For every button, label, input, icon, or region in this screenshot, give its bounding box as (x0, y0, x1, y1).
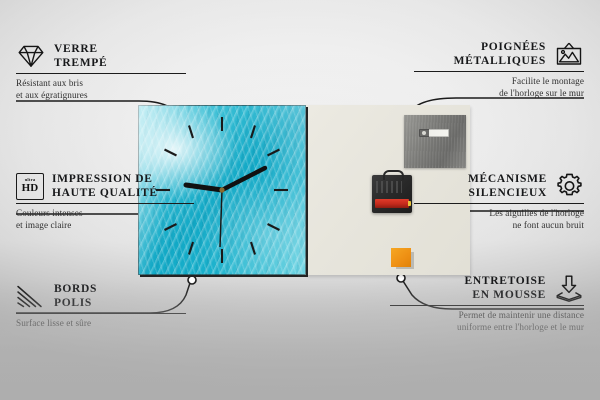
ultra-hd-icon-large-text: HD (22, 183, 39, 194)
metal-plate (404, 115, 466, 168)
callout-header: ENTRETOISE EN MOUSSE (390, 274, 584, 302)
callout-desc: Permet de maintenir une distance uniform… (390, 309, 584, 333)
mechanism-hook (383, 170, 404, 180)
battery (375, 199, 409, 208)
callout-header: ultra HD IMPRESSION DE HAUTE QUALITÉ (16, 172, 194, 200)
callout-rule (16, 313, 186, 314)
clock-center-cap (219, 187, 224, 192)
metal-plate-slot (419, 129, 449, 137)
callout-impression-haute-qualite: ultra HD IMPRESSION DE HAUTE QUALITÉ Cou… (16, 172, 194, 231)
foam-spacer-icon (554, 274, 584, 302)
callout-poignees-metalliques: POIGNÉES MÉTALLIQUES Facilite le montage… (414, 40, 584, 99)
callout-rule (414, 71, 584, 72)
callout-rule (16, 73, 186, 74)
polished-edges-icon (16, 284, 46, 309)
ultra-hd-icon: ultra HD (16, 173, 44, 200)
callout-title: BORDS POLIS (54, 282, 97, 310)
callout-title: MÉCANISME SILENCIEUX (468, 172, 547, 200)
callout-header: VERRE TREMPÉ (16, 42, 186, 70)
callout-header: MÉCANISME SILENCIEUX (414, 172, 584, 200)
quartz-mechanism (372, 175, 412, 213)
foam-spacer (391, 248, 411, 267)
callout-desc: Couleurs intenses et image claire (16, 207, 194, 231)
callout-desc: Surface lisse et sûre (16, 317, 186, 329)
callout-title: IMPRESSION DE HAUTE QUALITÉ (52, 172, 158, 200)
callout-header: POIGNÉES MÉTALLIQUES (414, 40, 584, 68)
callout-desc: Les aiguilles de l'horloge ne font aucun… (414, 207, 584, 231)
callout-desc: Résistant aux bris et aux égratignures (16, 77, 186, 101)
picture-frame-icon (554, 41, 584, 67)
callout-entretoise-en-mousse: ENTRETOISE EN MOUSSE Permet de maintenir… (390, 274, 584, 333)
callout-title: POIGNÉES MÉTALLIQUES (454, 40, 546, 68)
mechanism-vent (376, 181, 402, 193)
gear-icon (555, 172, 584, 200)
clock-hands (186, 168, 265, 247)
diamond-icon (16, 43, 46, 69)
callout-title: ENTRETOISE EN MOUSSE (465, 274, 546, 302)
callout-header: BORDS POLIS (16, 282, 186, 310)
second-hand (220, 190, 222, 247)
callout-title: VERRE TREMPÉ (54, 42, 107, 70)
minute-hand (222, 168, 265, 190)
callout-verre-trempe: VERRE TREMPÉ Résistant aux bris et aux é… (16, 42, 186, 101)
leader-dot-bords-polis (188, 276, 196, 284)
callout-bords-polis: BORDS POLIS Surface lisse et sûre (16, 282, 186, 329)
callout-rule (390, 305, 584, 306)
callout-rule (414, 203, 584, 204)
callout-mecanisme-silencieux: MÉCANISME SILENCIEUX Les aiguilles de l'… (414, 172, 584, 231)
callout-rule (16, 203, 194, 204)
callout-desc: Facilite le montage de l'horloge sur le … (414, 75, 584, 99)
infographic-canvas: VERRE TREMPÉ Résistant aux bris et aux é… (0, 0, 600, 400)
